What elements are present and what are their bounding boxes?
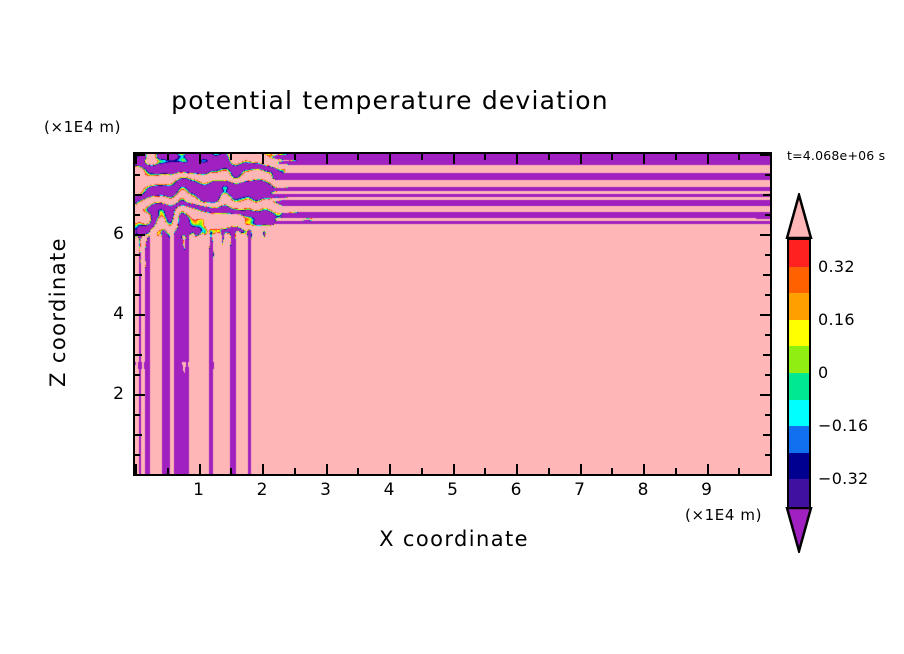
tick-mark [738,468,740,474]
tick-mark [389,154,391,164]
tick-mark [262,154,264,164]
tick-mark [760,314,770,316]
tick-mark [707,154,709,164]
tick-mark [199,154,201,164]
x-tick-label: 7 [565,480,595,500]
tick-mark [765,374,770,376]
tick-mark [707,464,709,474]
tick-mark [135,464,137,474]
tick-mark [230,468,232,474]
colorbar-tick-label: 0.16 [818,310,855,329]
tick-mark [453,154,455,164]
tick-mark [135,234,145,236]
tick-mark [643,464,645,474]
colorbar-bands [787,238,811,508]
y-axis-title: Z coordinate [46,212,70,412]
tick-mark [580,154,582,164]
tick-mark [770,464,772,474]
tick-mark [765,334,770,336]
tick-mark [484,154,486,160]
plot-frame [133,152,772,476]
tick-mark [611,468,613,474]
colorbar-band [789,479,809,506]
tick-mark [135,294,140,296]
tick-mark [167,154,169,160]
tick-mark [765,294,770,296]
x-tick-label: 1 [184,480,214,500]
tick-mark [421,468,423,474]
tick-mark [760,154,770,156]
tick-mark [135,274,142,276]
tick-mark [135,394,145,396]
tick-mark [421,154,423,160]
tick-mark [135,254,140,256]
x-axis-title: X coordinate [334,527,574,551]
tick-mark [516,154,518,164]
tick-mark [326,154,328,164]
tick-mark [357,468,359,474]
x-tick-label: 5 [438,480,468,500]
tick-mark [760,394,770,396]
tick-mark [135,334,140,336]
tick-mark [760,474,770,476]
tick-mark [765,214,770,216]
tick-mark [135,354,142,356]
tick-mark [326,464,328,474]
colorbar-tick-label: 0 [818,363,828,382]
tick-mark [675,154,677,160]
colorbar-band [789,240,809,267]
tick-mark [135,454,140,456]
tick-mark [765,414,770,416]
y-tick-label: 6 [100,224,124,244]
tick-mark [548,468,550,474]
tick-mark [294,468,296,474]
tick-mark [765,454,770,456]
colorbar-under-arrow [785,507,813,553]
tick-mark [611,154,613,160]
x-tick-label: 3 [311,480,341,500]
tick-mark [516,464,518,474]
tick-mark [262,464,264,474]
x-tick-label: 9 [692,480,722,500]
tick-mark [453,464,455,474]
time-annotation: t=4.068e+06 s [787,148,885,163]
tick-mark [230,154,232,160]
y-tick-label: 2 [100,384,124,404]
tick-mark [763,434,770,436]
tick-mark [389,464,391,474]
x-tick-label: 8 [628,480,658,500]
tick-mark [357,154,359,160]
tick-mark [763,194,770,196]
y-axis-units-label: (×1E4 m) [44,118,121,136]
tick-mark [294,154,296,160]
tick-mark [135,174,140,176]
colorbar-tick-label: −0.16 [818,416,869,435]
tick-mark [763,274,770,276]
tick-mark [167,468,169,474]
page-title: potential temperature deviation [0,86,780,115]
tick-mark [770,154,772,164]
colorbar-band [789,400,809,427]
x-axis-units-label: (×1E4 m) [685,506,762,524]
colorbar-band [789,426,809,453]
colorbar-tick-label: 0.32 [818,257,855,276]
figure-canvas: potential temperature deviation (×1E4 m)… [0,0,904,654]
x-tick-label: 4 [374,480,404,500]
tick-mark [135,474,145,476]
colorbar-band [789,453,809,480]
tick-mark [548,154,550,160]
tick-mark [484,468,486,474]
tick-mark [135,314,145,316]
tick-mark [580,464,582,474]
y-tick-label: 4 [100,304,124,324]
colorbar-band [789,373,809,400]
tick-mark [199,464,201,474]
colorbar-band [789,346,809,373]
x-tick-label: 2 [247,480,277,500]
colorbar-over-arrow [785,193,813,239]
tick-mark [135,374,140,376]
tick-mark [765,254,770,256]
tick-mark [765,174,770,176]
tick-mark [135,214,140,216]
tick-mark [675,468,677,474]
tick-mark [643,154,645,164]
colorbar-band [789,267,809,294]
tick-mark [135,154,145,156]
tick-mark [135,194,142,196]
colorbar-tick-label: −0.32 [818,469,869,488]
tick-mark [760,234,770,236]
colorbar-band [789,293,809,320]
tick-mark [763,354,770,356]
tick-mark [135,434,142,436]
colorbar-band [789,320,809,347]
tick-mark [135,414,140,416]
x-tick-label: 6 [501,480,531,500]
tick-mark [738,154,740,160]
